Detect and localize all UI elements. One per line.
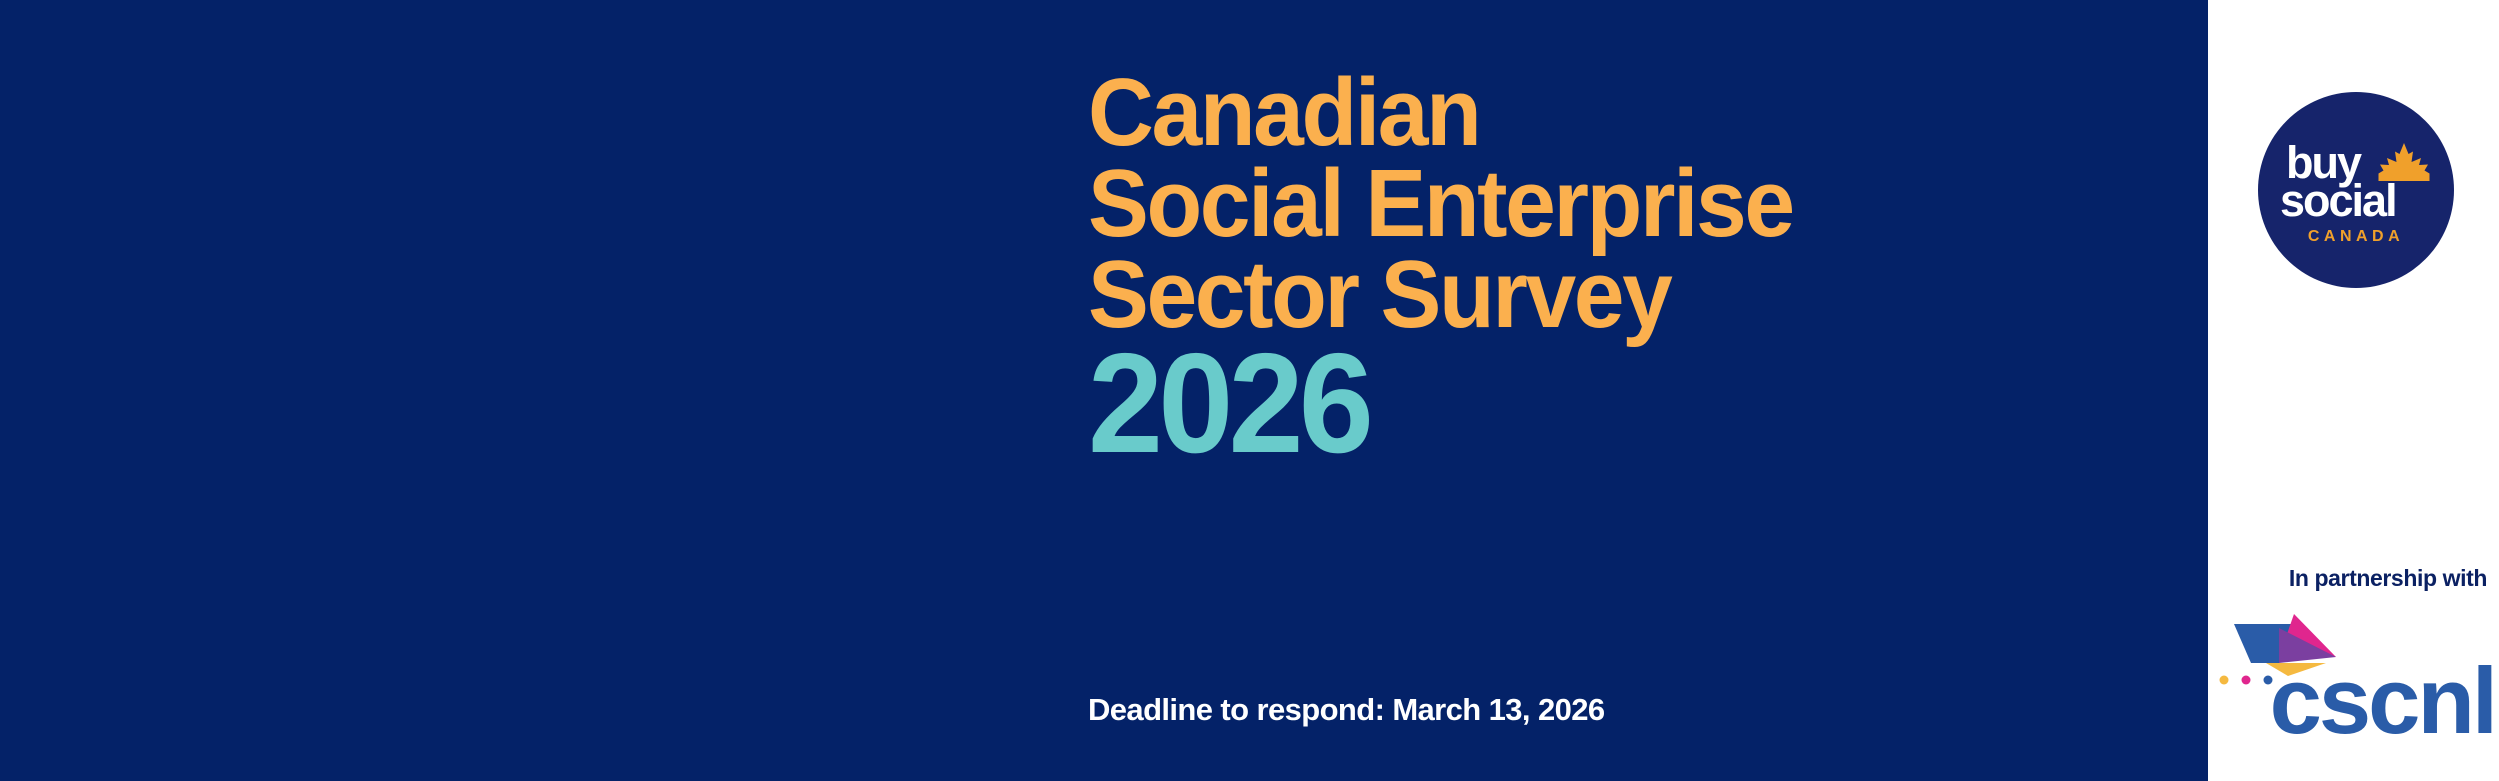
headline-line-2: Social Enterprise: [1088, 169, 2095, 238]
partnership-block: In partnership with cscnl: [2208, 565, 2499, 748]
buy-social-word-social: social: [2280, 178, 2396, 223]
partnership-label: In partnership with: [2208, 565, 2499, 592]
deadline-text: Deadline to respond: March 13, 2026: [1088, 692, 1605, 728]
headline-line-1: Canadian: [1088, 78, 2095, 147]
survey-promo-banner: Canadian Social Enterprise Sector Survey…: [0, 0, 2499, 781]
buy-social-logo-inner: buy social CANADA: [2258, 92, 2454, 288]
cscnl-wordmark: cscnl: [2218, 654, 2499, 748]
buy-social-word-canada: CANADA: [2258, 228, 2454, 246]
navy-background-panel: Canadian Social Enterprise Sector Survey…: [0, 0, 2208, 781]
buy-social-canada-logo[interactable]: buy social CANADA: [2258, 92, 2454, 288]
headline-block: Canadian Social Enterprise Sector Survey…: [1088, 78, 2148, 456]
logo-side-panel: buy social CANADA In partnership with: [2208, 0, 2499, 781]
headline-year: 2026: [1088, 351, 2095, 456]
cscnl-logo[interactable]: cscnl: [2208, 608, 2499, 748]
headline-line-3: Sector Survey: [1088, 260, 2095, 329]
